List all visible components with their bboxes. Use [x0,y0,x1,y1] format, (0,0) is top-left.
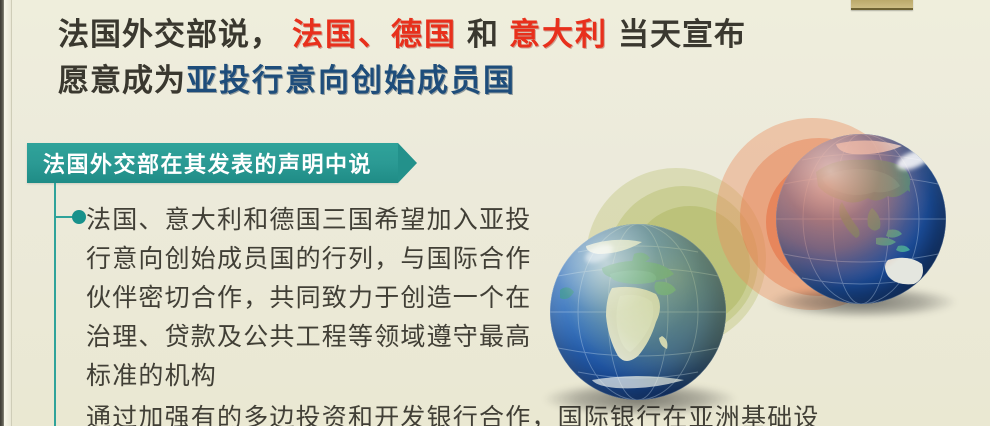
asia-australia-globe-icon [776,134,946,304]
headline: 法国外交部说，法国、德国和意大利当天宣布 愿意成为亚投行意向创始成员国 [58,12,958,104]
timeline-rail [54,183,56,426]
timeline-bullet-dot-icon [72,210,86,224]
page-border-light [4,0,11,426]
page-border-hairline [11,0,12,426]
headline-text-segment-tail: 当天宣布 [618,17,746,53]
section-banner: 法国外交部在其发表的声明中说 [27,143,398,183]
headline-text-segment-2: 愿意成为 [58,63,186,99]
headline-text-segment: 法国外交部说， [58,17,282,53]
europe-africa-globe-icon [550,224,726,400]
infographic-root: 法国外交部说，法国、德国和意大利当天宣布 愿意成为亚投行意向创始成员国 法国外交… [0,0,990,426]
headline-line-2: 愿意成为亚投行意向创始成员国 [58,58,958,104]
globe-left-shine [550,224,726,400]
body-paragraph-1: 法国、意大利和德国三国希望加入亚投行意向创始成员国的行列，与国际合作伙伴密切合作… [86,200,556,395]
headline-highlight-aiib: 亚投行意向创始成员国 [186,63,516,99]
gold-accent-chip [851,0,913,10]
headline-conjunction: 和 [467,17,499,53]
headline-line-1: 法国外交部说，法国、德国和意大利当天宣布 [58,12,958,58]
globe-illustration [520,120,990,426]
section-banner-wrapper: 法国外交部在其发表的声明中说 [27,143,398,183]
headline-highlight-countries-1: 法国、德国 [292,17,457,53]
headline-highlight-countries-2: 意大利 [509,17,608,53]
section-banner-label: 法国外交部在其发表的声明中说 [43,147,372,179]
